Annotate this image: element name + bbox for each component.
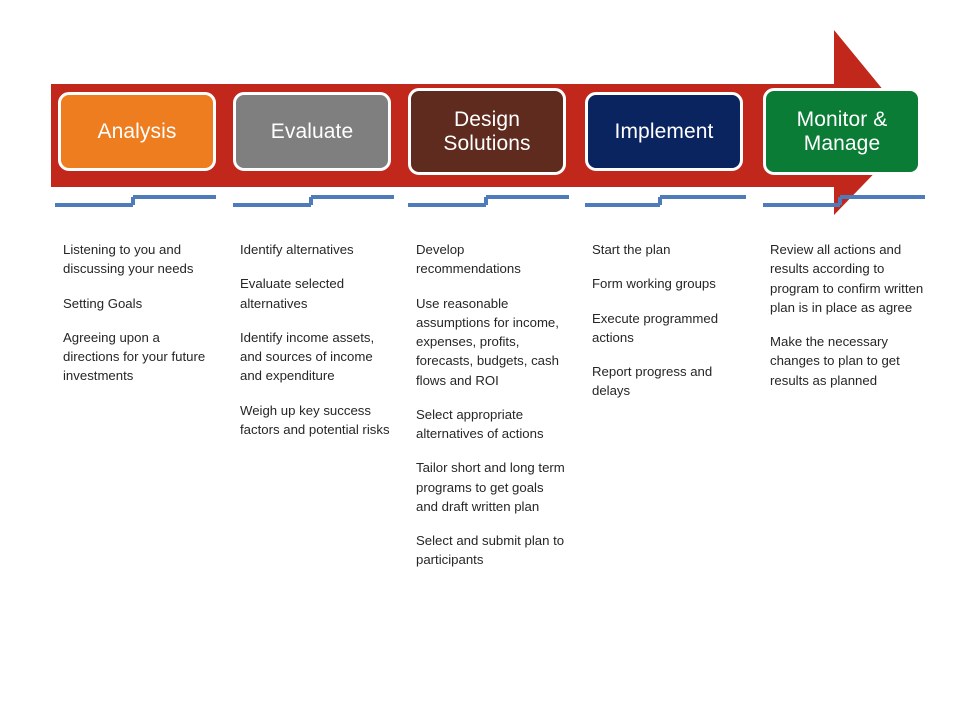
detail-item: Execute programmed actions (592, 309, 744, 348)
connector-1 (55, 197, 216, 205)
stage-box-monitor-manage[interactable]: Monitor & Manage (763, 88, 921, 175)
detail-item: Identify alternatives (240, 240, 392, 259)
connector-3 (408, 197, 569, 205)
connector-lines (0, 180, 960, 230)
stage-box-design-solutions[interactable]: Design Solutions (408, 88, 566, 175)
stage-label-design-solutions: Design Solutions (443, 108, 530, 155)
detail-item: Report progress and delays (592, 362, 744, 401)
detail-item: Select and submit plan to participants (416, 531, 568, 570)
detail-item: Setting Goals (63, 294, 215, 313)
detail-column-design-solutions: Develop recommendationsUse reasonable as… (416, 240, 568, 585)
detail-item: Tailor short and long term programs to g… (416, 458, 568, 516)
stage-label-analysis: Analysis (98, 120, 177, 144)
detail-item: Review all actions and results according… (770, 240, 930, 317)
connector-svg (0, 180, 960, 230)
detail-item: Make the necessary changes to plan to ge… (770, 332, 930, 390)
detail-item: Identify income assets, and sources of i… (240, 328, 392, 386)
stage-box-implement[interactable]: Implement (585, 92, 743, 171)
detail-column-analysis: Listening to you and discussing your nee… (63, 240, 215, 401)
stage-label-implement: Implement (615, 120, 714, 144)
detail-item: Agreeing upon a directions for your futu… (63, 328, 215, 386)
detail-column-evaluate: Identify alternativesEvaluate selected a… (240, 240, 392, 454)
connector-5 (763, 197, 925, 205)
detail-item: Select appropriate alternatives of actio… (416, 405, 568, 444)
detail-item: Use reasonable assumptions for income, e… (416, 294, 568, 390)
detail-item: Form working groups (592, 274, 744, 293)
detail-item: Listening to you and discussing your nee… (63, 240, 215, 279)
detail-item: Develop recommendations (416, 240, 568, 279)
connector-4 (585, 197, 746, 205)
stage-box-analysis[interactable]: Analysis (58, 92, 216, 171)
connector-2 (233, 197, 394, 205)
stage-detail-columns: Listening to you and discussing your nee… (0, 240, 960, 710)
detail-item: Start the plan (592, 240, 744, 259)
stage-label-monitor-manage: Monitor & Manage (797, 108, 888, 155)
stage-label-evaluate: Evaluate (271, 120, 354, 144)
detail-item: Weigh up key success factors and potenti… (240, 401, 392, 440)
stage-box-evaluate[interactable]: Evaluate (233, 92, 391, 171)
detail-column-monitor-manage: Review all actions and results according… (770, 240, 930, 405)
detail-item: Evaluate selected alternatives (240, 274, 392, 313)
process-diagram: Analysis Evaluate Design Solutions Imple… (0, 0, 960, 720)
detail-column-implement: Start the planForm working groupsExecute… (592, 240, 744, 416)
